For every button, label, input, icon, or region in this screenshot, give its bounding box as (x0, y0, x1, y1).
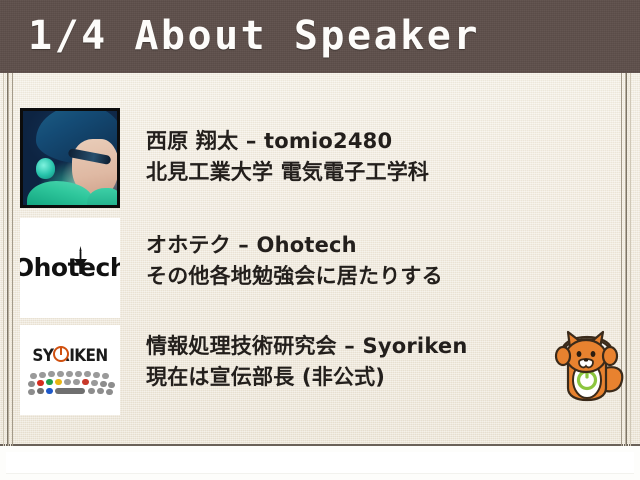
speaker-entry-text: 西原 翔太 – tomio2480 北見工業大学 電気電子工学科 (146, 126, 616, 188)
page-title: 1/4 About Speaker (28, 10, 480, 62)
ohotech-logo-art: Ohotech (20, 218, 120, 318)
ohotech-entry-text: オホテク – Ohotech その他各地勉強会に居たりする (146, 230, 616, 292)
ohotech-tower-icon (73, 246, 88, 274)
power-icon (53, 346, 69, 362)
watermark-text (498, 452, 630, 472)
syoriken-logo-art: SY RIKEN (20, 325, 120, 415)
portrait-shirt-right (87, 188, 120, 208)
entry-title-line: 西原 翔太 – tomio2480 (146, 126, 616, 156)
entry-title-line: 情報処理技術研究会 – Syoriken (146, 331, 616, 361)
slide-root: 1/4 About Speaker (0, 0, 640, 480)
keyboard-graphic (26, 371, 114, 401)
left-margin-rules (2, 73, 16, 446)
entry-title-line: オホテク – Ohotech (146, 230, 616, 260)
syoriken-fox-mascot (548, 318, 626, 404)
syoriken-entry-text: 情報処理技術研究会 – Syoriken 現在は宣伝部長 (非公式) (146, 331, 616, 393)
speaker-portrait-photo (20, 108, 120, 208)
syoriken-logo: SY RIKEN (20, 325, 120, 415)
portrait-image (23, 111, 117, 205)
ohotech-logo: Ohotech (20, 218, 120, 318)
entry-detail-line: 現在は宣伝部長 (非公式) (146, 361, 616, 393)
slide-header-bar: 1/4 About Speaker (0, 0, 640, 73)
entry-detail-line: その他各地勉強会に居たりする (146, 260, 616, 292)
entry-detail-line: 北見工業大学 電気電子工学科 (146, 156, 616, 188)
syoriken-wordmark: SY RIKEN (28, 347, 112, 365)
portrait-earring (36, 158, 55, 179)
ohotech-wordmark: Ohotech (20, 254, 120, 282)
